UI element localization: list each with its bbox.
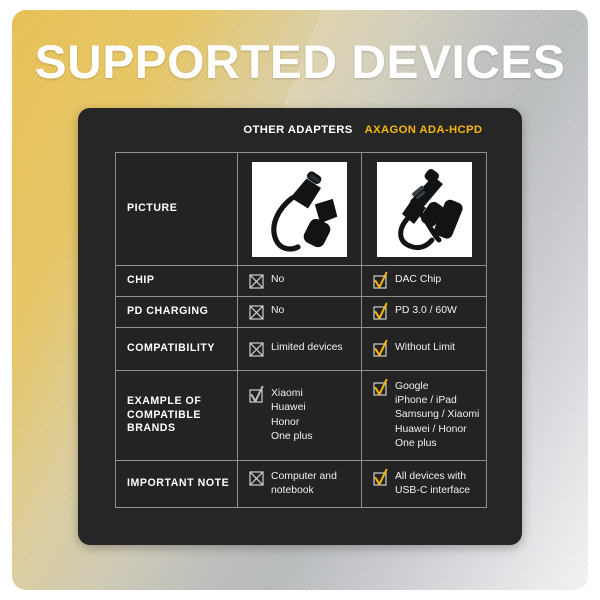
cell-other-compatibility: Limited devices <box>238 328 362 371</box>
cell-other-important-note: Computer and notebook <box>238 461 362 508</box>
infographic-root: SUPPORTED DEVICES OTHER ADAPTERS AXAGON … <box>0 0 600 600</box>
cell-axagon-pd-charging: PD 3.0 / 60W <box>362 297 487 328</box>
column-header-row: OTHER ADAPTERS AXAGON ADA-HCPD <box>78 122 522 144</box>
x-mark-box-icon <box>249 274 264 289</box>
row-label-cell: PICTURE <box>116 153 238 266</box>
cell-text: No <box>271 273 284 287</box>
check-box-gold-icon <box>373 381 388 396</box>
row-label: PD CHARGING <box>116 299 237 325</box>
cell-text: Without Limit <box>395 341 455 355</box>
check-box-gold-icon <box>373 305 388 320</box>
row-label: EXAMPLE OF COMPATIBLE BRANDS <box>116 389 237 442</box>
cell-other-brands: Xiaomi Huawei Honor One plus <box>238 371 362 461</box>
cell-other-chip: No <box>238 266 362 297</box>
check-box-gold-icon <box>373 274 388 289</box>
cell-text: DAC Chip <box>395 273 441 287</box>
cell-text: Xiaomi Huawei Honor One plus <box>271 387 313 444</box>
table-row: EXAMPLE OF COMPATIBLE BRANDS Xiaomi Huaw… <box>116 371 487 461</box>
cell-axagon-picture <box>362 153 487 266</box>
cell-text: Limited devices <box>271 341 343 355</box>
cell-text: Computer and notebook <box>271 470 337 498</box>
check-box-gray-icon <box>249 388 264 403</box>
table-row: IMPORTANT NOTE Computer and notebook <box>116 461 487 508</box>
product-image-axagon-adapter <box>377 162 472 257</box>
table-row: PD CHARGING No <box>116 297 487 328</box>
cell-axagon-chip: DAC Chip <box>362 266 487 297</box>
x-mark-box-icon <box>249 342 264 357</box>
table-row: PICTURE <box>116 153 487 266</box>
check-box-gold-icon <box>373 342 388 357</box>
product-image-other-adapter <box>252 162 347 257</box>
row-label-cell: CHIP <box>116 266 238 297</box>
x-mark-box-icon <box>249 471 264 486</box>
row-label-cell: EXAMPLE OF COMPATIBLE BRANDS <box>116 371 238 461</box>
comparison-panel: OTHER ADAPTERS AXAGON ADA-HCPD PICTURE <box>78 108 522 545</box>
table-row: CHIP No <box>116 266 487 297</box>
cell-axagon-compatibility: Without Limit <box>362 328 487 371</box>
row-label: CHIP <box>116 268 237 294</box>
cell-other-picture <box>238 153 362 266</box>
cell-text: PD 3.0 / 60W <box>395 304 457 318</box>
column-header-other-adapters: OTHER ADAPTERS <box>236 122 360 138</box>
row-label-cell: PD CHARGING <box>116 297 238 328</box>
row-label: COMPATIBILITY <box>116 336 237 362</box>
cell-axagon-important-note: All devices with USB-C interface <box>362 461 487 508</box>
cell-text: Google iPhone / iPad Samsung / Xiaomi Hu… <box>395 380 479 451</box>
x-mark-box-icon <box>249 305 264 320</box>
column-header-axagon: AXAGON ADA-HCPD <box>360 122 487 138</box>
table-row: COMPATIBILITY Limited devices <box>116 328 487 371</box>
row-label-cell: COMPATIBILITY <box>116 328 238 371</box>
row-label-cell: IMPORTANT NOTE <box>116 461 238 508</box>
cell-text: All devices with USB-C interface <box>395 470 470 498</box>
page-title: SUPPORTED DEVICES <box>0 36 600 88</box>
cell-text: No <box>271 304 284 318</box>
check-box-gold-icon <box>373 471 388 486</box>
row-label: PICTURE <box>116 196 237 222</box>
comparison-table: PICTURE <box>115 152 487 508</box>
cell-axagon-brands: Google iPhone / iPad Samsung / Xiaomi Hu… <box>362 371 487 461</box>
row-label: IMPORTANT NOTE <box>116 471 237 497</box>
cell-other-pd-charging: No <box>238 297 362 328</box>
